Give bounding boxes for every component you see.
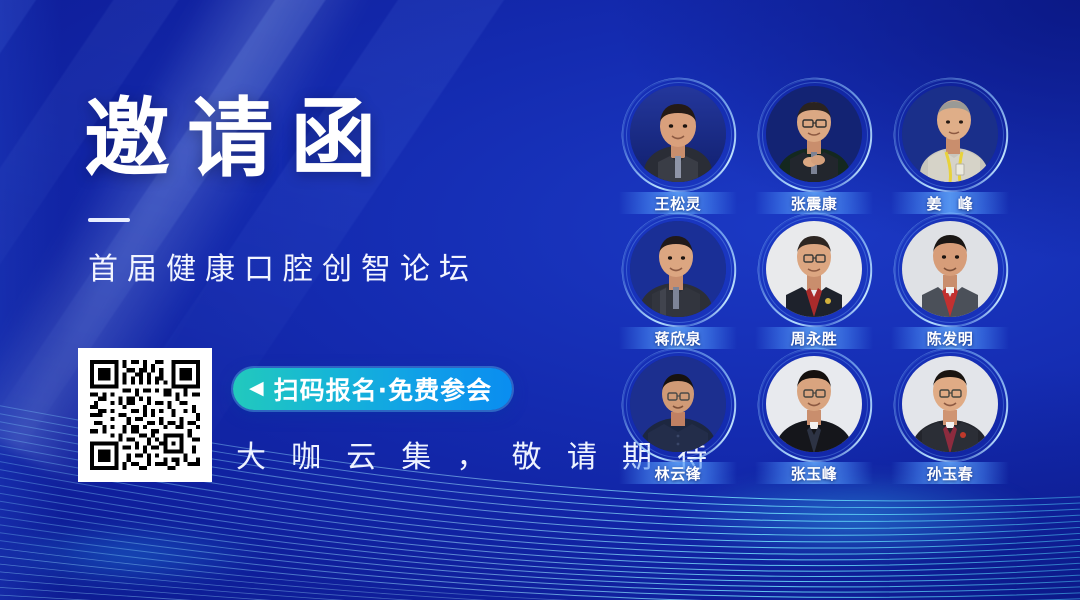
speaker-name: 周永胜 [791,328,838,349]
avatar-glow-ring [757,347,873,463]
avatar [630,356,726,452]
speaker-card[interactable]: 周永胜 [754,221,874,349]
register-cta-button[interactable]: ◀ 扫码报名·免费参会 [233,368,512,410]
speaker-card[interactable]: 姜 峰 [890,86,1010,214]
speaker-card[interactable]: 张玉峰 [754,356,874,484]
speaker-name-plate: 张震康 [755,192,873,214]
speaker-name: 陈发明 [927,328,974,349]
avatar-glow-ring [893,347,1009,463]
avatar [766,221,862,317]
avatar-glow-ring [757,77,873,193]
speaker-name-plate: 姜 峰 [891,192,1009,214]
speaker-name: 林云锋 [655,463,702,484]
avatar [902,86,998,182]
avatar [902,221,998,317]
invitation-poster: 邀请函 首届健康口腔创智论坛 [0,0,1080,600]
speaker-name-plate: 周永胜 [755,327,873,349]
avatar-glow-ring [893,77,1009,193]
speaker-name: 姜 峰 [927,193,974,214]
avatar-glow-ring [621,77,737,193]
speaker-name-plate: 孙玉春 [891,462,1009,484]
speaker-name: 孙玉春 [927,463,974,484]
avatar-glow-ring [757,212,873,328]
avatar-glow-ring [893,212,1009,328]
avatar [902,356,998,452]
speaker-card[interactable]: 王松灵 [618,86,738,214]
avatar-glow-ring [621,347,737,463]
speaker-name: 张震康 [791,193,838,214]
speaker-name: 蒋欣泉 [655,328,702,349]
left-triangle-icon: ◀ [249,379,264,398]
avatar [766,356,862,452]
speaker-name-plate: 林云锋 [619,462,737,484]
qr-code-image [86,356,204,474]
speaker-name-plate: 蒋欣泉 [619,327,737,349]
avatar-glow-ring [621,212,737,328]
avatar [630,86,726,182]
speaker-name: 张玉峰 [791,463,838,484]
speaker-card[interactable]: 孙玉春 [890,356,1010,484]
speaker-name-plate: 陈发明 [891,327,1009,349]
avatar [630,221,726,317]
page-subtitle: 首届健康口腔创智论坛 [88,244,584,288]
speaker-card[interactable]: 陈发明 [890,221,1010,349]
speaker-name: 王松灵 [655,193,702,214]
headline-block: 邀请函 首届健康口腔创智论坛 [84,96,584,288]
register-cta-label: 扫码报名·免费参会 [274,371,493,407]
qr-code[interactable] [78,348,212,482]
speaker-name-plate: 张玉峰 [755,462,873,484]
speaker-name-plate: 王松灵 [619,192,737,214]
avatar [766,86,862,182]
speaker-card[interactable]: 蒋欣泉 [618,221,738,349]
title-divider [88,218,130,222]
speaker-card[interactable]: 林云锋 [618,356,738,484]
page-title: 邀请函 [84,96,584,184]
speaker-grid: 王松灵 张震康 姜 峰 [610,86,1018,491]
speaker-card[interactable]: 张震康 [754,86,874,214]
